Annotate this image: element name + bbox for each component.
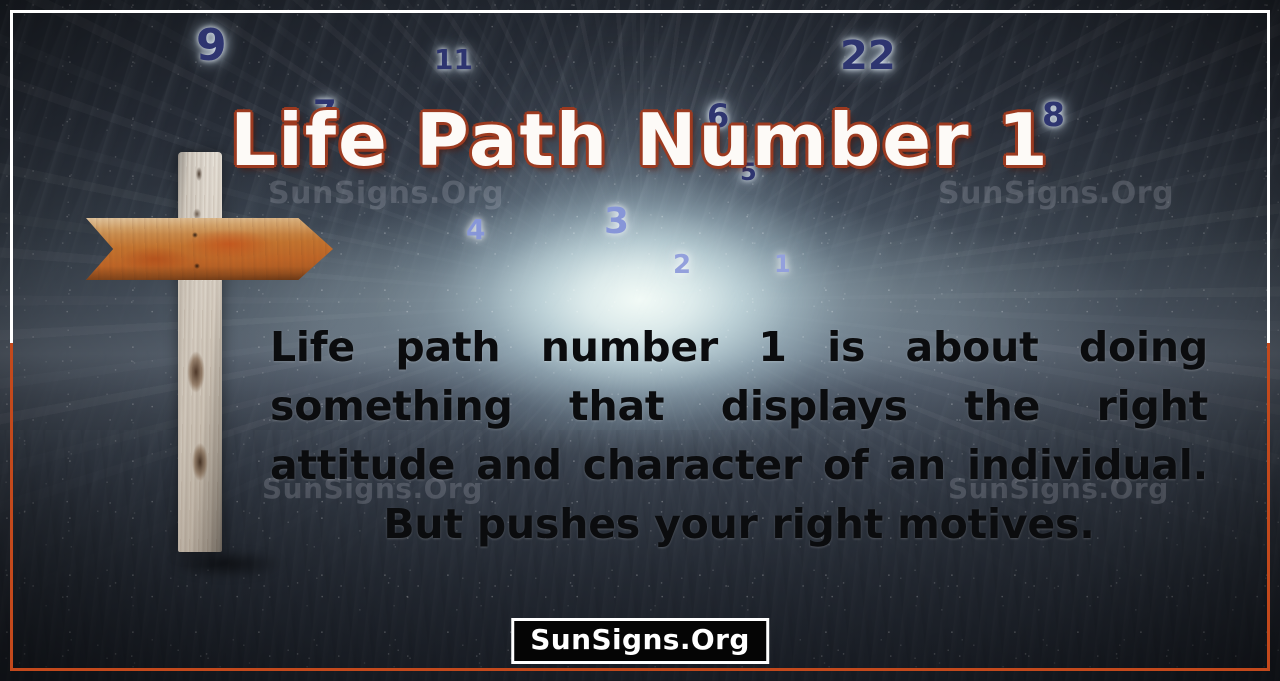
body-paragraph: Life path number 1 is about doing someth… <box>270 318 1208 554</box>
signpost-arrow-right-icon <box>86 218 333 280</box>
image-canvas: 9112276854321 SunSigns.OrgSunSigns.OrgSu… <box>0 0 1280 681</box>
floating-number-1: 1 <box>774 252 791 276</box>
page-title: Life Path Number 1 <box>0 104 1280 176</box>
signpost-post <box>178 152 222 552</box>
floating-number-2: 2 <box>673 252 691 278</box>
floating-number-3: 3 <box>604 204 629 240</box>
floating-number-11: 11 <box>434 46 473 74</box>
sunsigns-logo-badge[interactable]: SunSigns.Org <box>511 618 769 664</box>
floating-number-22: 22 <box>840 36 896 76</box>
floating-number-9: 9 <box>196 24 227 68</box>
floating-number-4: 4 <box>466 216 485 244</box>
